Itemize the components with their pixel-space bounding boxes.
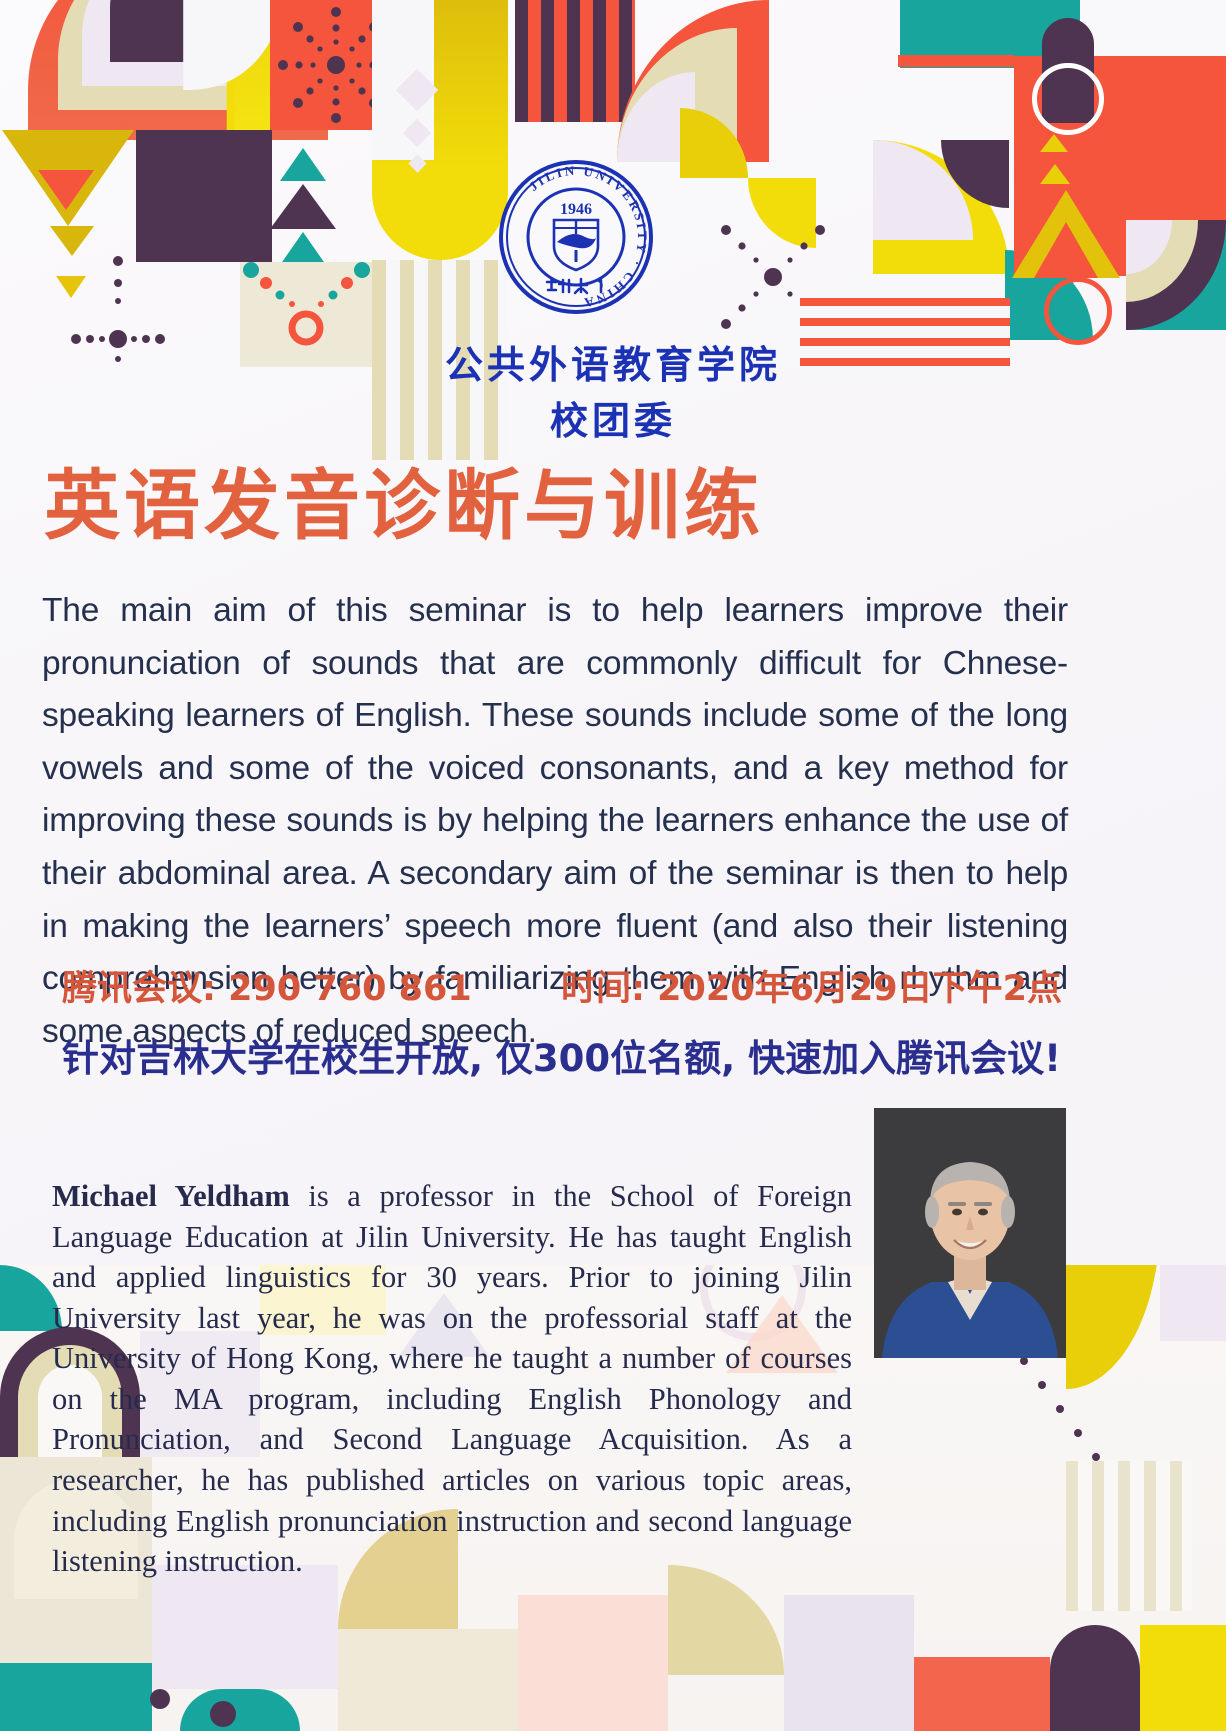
enrollment-notice: 针对吉林大学在校生开放, 仅300位名额, 快速加入腾讯会议!: [62, 1028, 1122, 1082]
deco-stripes-plum: [515, 0, 635, 122]
meeting-time-label: 时间: 2020年6月29日下午2点: [561, 960, 1062, 1011]
page-title: 英语发音诊断与训练: [44, 466, 764, 546]
deco-stripes-cream-bottomright: [1066, 1461, 1192, 1611]
deco-rect-teal-bottomleft: [0, 1663, 152, 1731]
deco-triangle-yellow-sm1: [1040, 134, 1068, 152]
organization-line-1: 公共外语教育学院: [0, 334, 1226, 389]
deco-rect-cream-bottom-2: [338, 1629, 518, 1731]
deco-ring-white: [1032, 63, 1104, 135]
deco-triangle-yellow-sm2: [1040, 164, 1070, 184]
speaker-name: Michael Yeldham: [52, 1179, 290, 1213]
meeting-id-label: 腾讯会议: 290 760 861: [62, 960, 561, 1011]
meeting-info-row: 腾讯会议: 290 760 861 时间: 2020年6月29日下午2点: [62, 960, 1062, 1011]
deco-rect-yellow-bottomright: [1140, 1625, 1226, 1731]
deco-triangle-teal-bottom: [280, 232, 326, 265]
deco-triangle-orange-inner-r: [1034, 222, 1098, 278]
speaker-bio-text: is a professor in the School of Foreign …: [52, 1179, 852, 1578]
svg-text:1946: 1946: [560, 201, 592, 218]
poster-root: JILIN UNIVERSITY · CHINA 1946 公共外语教育学院 校…: [0, 0, 1226, 1731]
speaker-portrait: [874, 1108, 1066, 1358]
deco-circle-plum-bottom: [210, 1701, 236, 1727]
deco-rect-pale-bottom-1: [152, 1565, 338, 1689]
deco-arch-plum-bottomright: [1050, 1625, 1140, 1731]
deco-circle-dark-marker: [150, 1689, 170, 1709]
jilin-university-seal-logo: JILIN UNIVERSITY · CHINA 1946: [497, 158, 655, 316]
speaker-bio: Michael Yeldham is a professor in the Sc…: [52, 1176, 852, 1582]
deco-triangle-plum-mid: [270, 184, 336, 229]
deco-square-plum: [136, 130, 272, 262]
deco-rect-orange-bottomright: [914, 1657, 1050, 1731]
deco-rect-orange-topleft: [898, 55, 1014, 67]
deco-rect-cream-footer-right: [1160, 1265, 1226, 1341]
deco-rect-pink-bottom: [518, 1595, 668, 1731]
organization-line-2: 校团委: [0, 390, 1226, 445]
deco-triangle-orange-small: [38, 170, 94, 210]
deco-triangle-yellow-mid: [50, 226, 94, 256]
deco-rect-lav-bottom: [784, 1595, 914, 1731]
deco-triangle-teal-top: [280, 148, 326, 181]
